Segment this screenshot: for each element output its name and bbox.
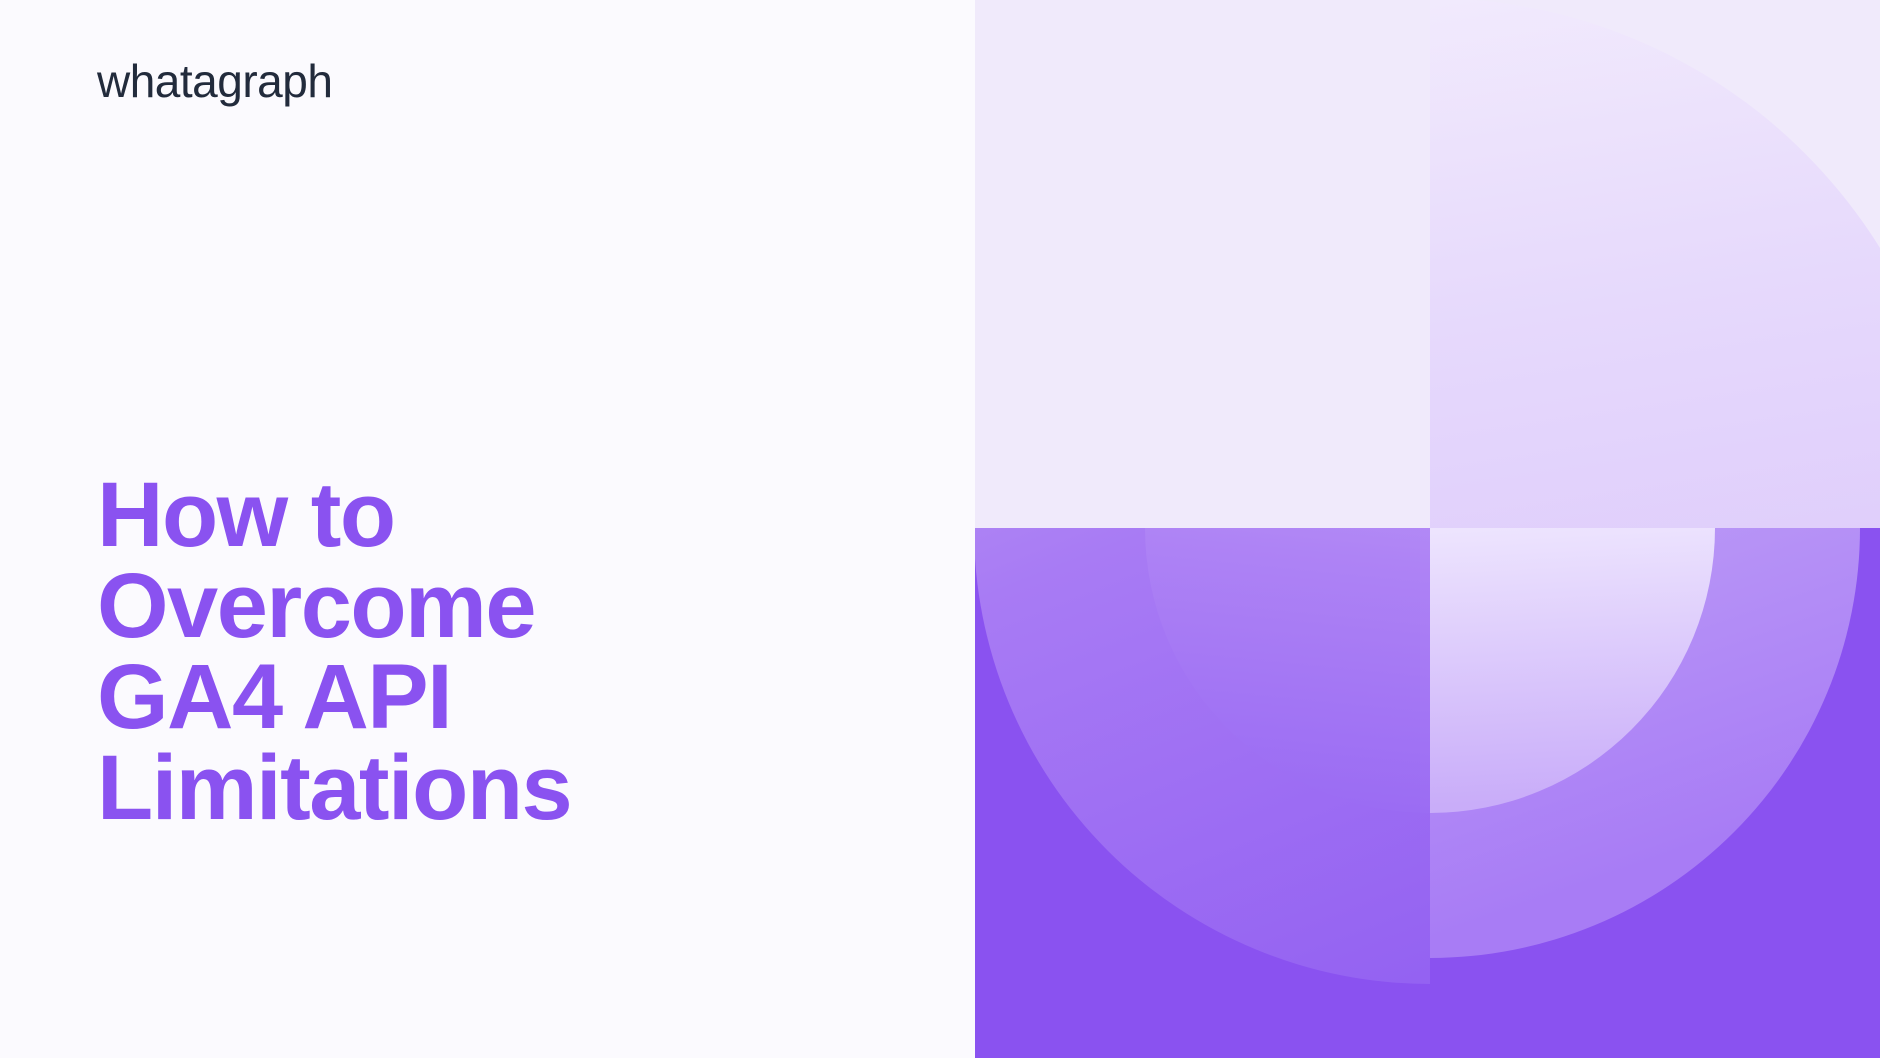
page-title-line-1: How to xyxy=(97,470,797,561)
quadrant-top-left xyxy=(975,0,1430,528)
abstract-quadrant-circles-illustration xyxy=(975,0,1880,1058)
decorative-graphic-panel xyxy=(975,0,1880,1058)
page-title: How to Overcome GA4 API Limitations xyxy=(97,470,797,834)
left-content-pane: whatagraph How to Overcome GA4 API Limit… xyxy=(0,0,975,1058)
whatagraph-logo[interactable]: whatagraph xyxy=(97,58,332,104)
page-title-line-2: Overcome xyxy=(97,561,797,652)
page-title-line-4: Limitations xyxy=(97,743,797,834)
hero-banner: whatagraph How to Overcome GA4 API Limit… xyxy=(0,0,1880,1058)
page-title-line-3: GA4 API xyxy=(97,652,797,743)
